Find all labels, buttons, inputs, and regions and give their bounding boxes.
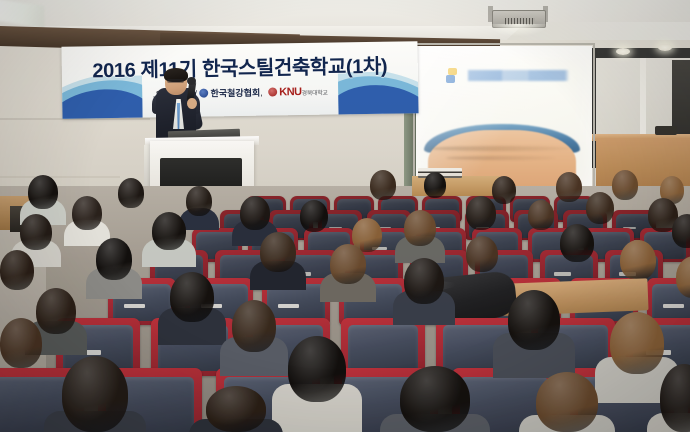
seat-number-tag [554, 272, 571, 275]
audience-head [400, 366, 470, 432]
audience-member [186, 186, 212, 216]
projector-lamp-glow [488, 24, 548, 36]
audience-head [186, 186, 212, 216]
audience-member [400, 366, 470, 432]
audience-head [152, 212, 186, 250]
audience-head [240, 196, 270, 230]
seat-number-tag [124, 304, 144, 308]
audience-head [586, 192, 614, 224]
audience-head [170, 272, 214, 322]
audience-head [330, 244, 366, 284]
audience-member [404, 258, 444, 304]
speaker-hand [187, 98, 197, 109]
seminar-photograph: 2016 제11기 한국스틸건축학교(1차) .10.25(화) / 한국철강협… [0, 0, 690, 432]
audience-head [370, 170, 396, 200]
audience-head [556, 172, 582, 202]
audience-member [560, 224, 594, 262]
audience-head [404, 210, 436, 246]
event-banner: 2016 제11기 한국스틸건축학교(1차) .10.25(화) / 한국철강협… [61, 41, 418, 119]
audience-head [118, 178, 144, 208]
seat-number-tag [663, 304, 683, 308]
audience-member [508, 290, 560, 350]
audience-head [660, 364, 690, 432]
banner-organizer-primary: 한국철강협회 [210, 88, 260, 99]
speaker-glasses-icon [167, 79, 184, 83]
audience-head [206, 386, 266, 432]
audience-head [466, 236, 498, 272]
audience-head [466, 196, 496, 230]
audience-head [72, 196, 102, 230]
audience-member [62, 356, 128, 432]
audience-head [36, 288, 76, 334]
banner-organizer-secondary: 경북대학교 [302, 91, 328, 97]
audience-head [672, 214, 690, 248]
audience-head [0, 318, 42, 368]
seat-number-tag [278, 304, 298, 308]
audience-member [424, 172, 446, 198]
audience-member [260, 232, 296, 272]
banner-title: 2016 제11기 한국스틸건축학교(1차) [62, 49, 418, 84]
wall-seam-lower [0, 176, 120, 178]
downlight-icon-1 [616, 48, 630, 55]
audience-head [28, 175, 58, 209]
audience-member [660, 364, 690, 432]
audience-member [206, 386, 266, 432]
audience-head [560, 224, 594, 262]
audience-member [610, 312, 664, 374]
audience-head [528, 200, 554, 230]
audience-member [96, 238, 132, 280]
audience-member [0, 250, 34, 290]
seat-cushion [348, 325, 419, 371]
downlight-icon-2 [658, 44, 672, 51]
steel-association-logo-icon [199, 88, 208, 97]
audience-member [20, 214, 52, 250]
audience-head [288, 336, 346, 402]
audience-head [676, 256, 690, 298]
audience-member [466, 236, 498, 272]
audience-member [170, 272, 214, 322]
knu-logo-icon [268, 87, 277, 96]
audience-member [300, 200, 328, 232]
audience-head [620, 240, 656, 280]
audience-head [20, 214, 52, 250]
audience-head [610, 312, 664, 374]
audience-member [466, 196, 496, 230]
audience-member [118, 178, 144, 208]
audience-member [528, 200, 554, 230]
audience-member [586, 192, 614, 224]
audience-member [330, 244, 366, 284]
audience-head [232, 300, 276, 352]
audience-member [152, 212, 186, 250]
audience-member [612, 170, 638, 200]
audience-member [536, 372, 598, 432]
audience-member [36, 288, 76, 334]
audience-member [676, 256, 690, 298]
audience-head [96, 238, 132, 280]
audience-member [288, 336, 346, 402]
audience-head [424, 172, 446, 198]
audience-member [0, 318, 42, 368]
banner-knu-mark: KNU [279, 86, 302, 98]
audience-member [370, 170, 396, 200]
audience-head [612, 170, 638, 200]
audience-member [240, 196, 270, 230]
audience-member [404, 210, 436, 246]
audience-member [28, 175, 58, 209]
microphone-head [187, 77, 196, 85]
audience-head [536, 372, 598, 432]
audience-head [260, 232, 296, 272]
audience-member [556, 172, 582, 202]
audience-head [508, 290, 560, 350]
audience-head [300, 200, 328, 232]
audience-member [672, 214, 690, 248]
booth-equipment [655, 126, 677, 135]
audience-head [62, 356, 128, 432]
audience-member [72, 196, 102, 230]
banner-organizer-comma: , [260, 88, 263, 98]
audience-head [404, 258, 444, 304]
audience-member [232, 300, 276, 352]
audience-member [620, 240, 656, 280]
audience-head [0, 250, 34, 290]
ceiling-projector-icon [486, 6, 550, 32]
